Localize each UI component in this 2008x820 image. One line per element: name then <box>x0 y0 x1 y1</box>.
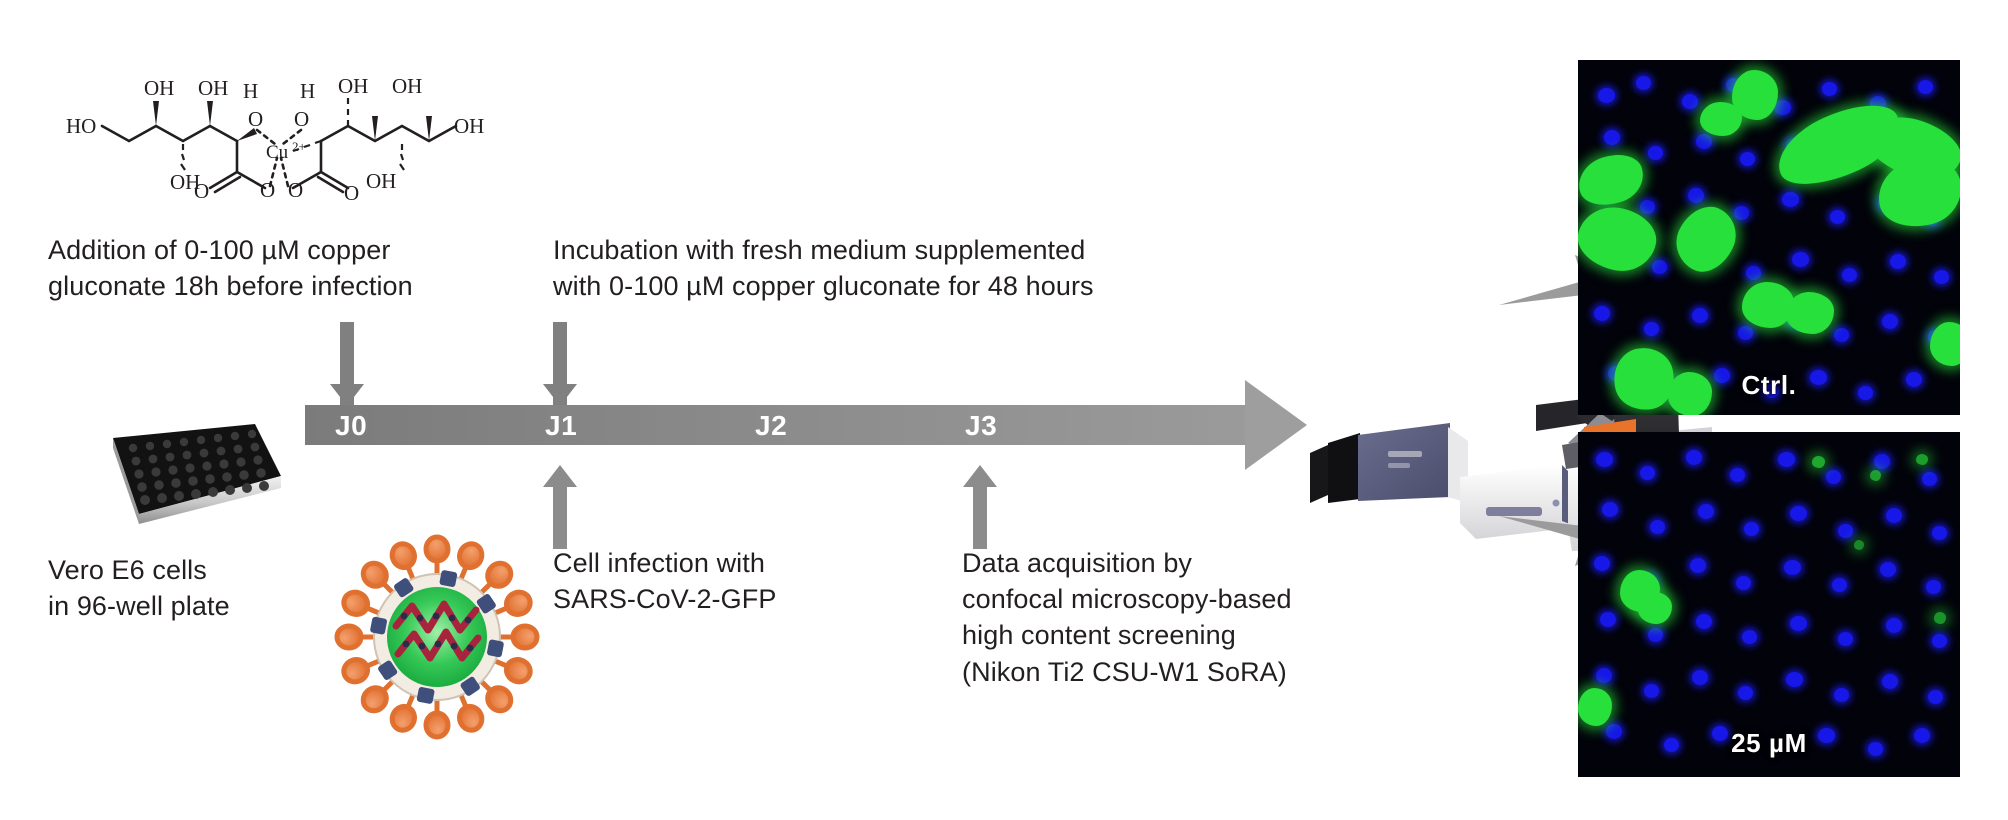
timeline-tick-j2: J2 <box>755 410 787 442</box>
atom-label-oh: OH <box>454 114 484 138</box>
timeline-arrowhead-icon <box>1245 380 1307 470</box>
incubation-line-2: with 0-100 µM copper gluconate for 48 ho… <box>553 268 1193 304</box>
copper-gluconate-structure: HO OH OH OH O H O H O O O O OH OH OH OH … <box>44 58 514 218</box>
timeline-tick-j0: J0 <box>335 410 367 442</box>
arrow-down-j1 <box>553 322 567 406</box>
acquisition-line-3: high content screening <box>962 617 1382 653</box>
atom-label-o: O <box>194 179 209 203</box>
atom-label-oh: OH <box>198 76 228 100</box>
atom-label-oh: OH <box>338 74 368 98</box>
treatment-line-1: Addition of 0-100 µM copper <box>48 232 428 268</box>
sars-cov-2-virion-icon <box>330 530 545 745</box>
micrograph-panel-treated: 25 µM <box>1578 432 1960 777</box>
atom-label-h: H <box>300 79 315 103</box>
micrograph-panel-control: Ctrl. <box>1578 60 1960 415</box>
arrow-down-j0 <box>340 322 354 406</box>
atom-label-h: H <box>243 79 258 103</box>
atom-label-o: O <box>288 178 303 202</box>
arrow-up-j1 <box>553 465 577 549</box>
incubation-line-1: Incubation with fresh medium supplemente… <box>553 232 1193 268</box>
step-cells-text: Vero E6 cells in 96-well plate <box>48 552 348 624</box>
atom-label-o: O <box>248 107 263 131</box>
acquisition-line-2: confocal microscopy-based <box>962 581 1382 617</box>
timeline-tick-j1: J1 <box>545 410 577 442</box>
step-treatment-text: Addition of 0-100 µM copper gluconate 18… <box>48 232 428 304</box>
timeline-tick-j3: J3 <box>965 410 997 442</box>
atom-label-o: O <box>260 178 275 202</box>
infection-line-2: SARS-CoV-2-GFP <box>553 581 873 617</box>
atom-label-ho: HO <box>66 114 96 138</box>
atom-label-oh: OH <box>366 169 396 193</box>
panel-label-treated: 25 µM <box>1578 728 1960 759</box>
step-incubation-text: Incubation with fresh medium supplemente… <box>553 232 1193 304</box>
step-acquisition-text: Data acquisition by confocal microscopy-… <box>962 545 1382 690</box>
step-infection-text: Cell infection with SARS-CoV-2-GFP <box>553 545 873 617</box>
atom-label-oh: OH <box>392 74 422 98</box>
atom-label-oh: OH <box>144 76 174 100</box>
96-well-plate-photo <box>105 418 285 528</box>
cells-line-2: in 96-well plate <box>48 588 348 624</box>
panel-label-control: Ctrl. <box>1578 370 1960 401</box>
acquisition-line-4: (Nikon Ti2 CSU-W1 SoRA) <box>962 654 1382 690</box>
cells-line-1: Vero E6 cells <box>48 552 348 588</box>
atom-label-copper: Cu <box>266 142 289 163</box>
arrow-up-j3 <box>973 465 997 549</box>
charge-label: 2+ <box>292 139 306 154</box>
infection-line-1: Cell infection with <box>553 545 873 581</box>
atom-label-o: O <box>344 181 359 205</box>
treatment-line-2: gluconate 18h before infection <box>48 268 428 304</box>
atom-label-o: O <box>294 107 309 131</box>
